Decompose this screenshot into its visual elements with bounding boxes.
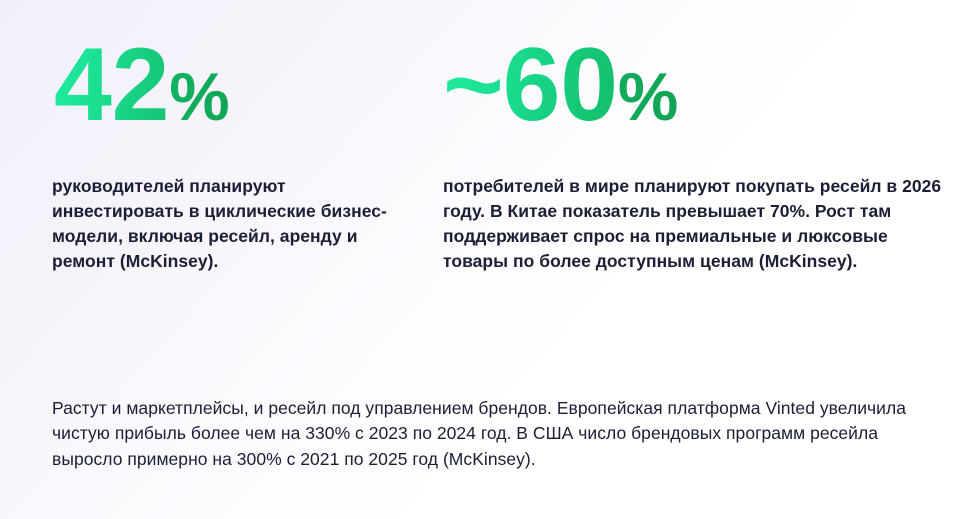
stat-percent-symbol-60: % [618, 12, 677, 182]
stat-approx-symbol-60: ~ [443, 0, 501, 170]
stat-caption-60: потребителей в мире планируют покупать р… [443, 174, 943, 274]
stat-percent-symbol-42: % [169, 12, 228, 182]
footnote-paragraph: Растут и маркетплейсы, и ресейл под упра… [52, 396, 928, 473]
stat-value-42: 42% [52, 0, 412, 170]
infographic-slide: 42% руководителей планируют инвестироват… [0, 0, 961, 519]
stat-number-60: 60 [503, 0, 618, 170]
stat-caption-42: руководителей планируют инвестировать в … [52, 174, 397, 274]
stat-number-42: 42 [54, 0, 169, 170]
stat-block-60: ~60% потребителей в мире планируют покуп… [443, 0, 948, 274]
statistics-row: 42% руководителей планируют инвестироват… [0, 0, 961, 330]
stat-value-60: ~60% [443, 0, 948, 170]
stat-block-42: 42% руководителей планируют инвестироват… [52, 0, 412, 274]
